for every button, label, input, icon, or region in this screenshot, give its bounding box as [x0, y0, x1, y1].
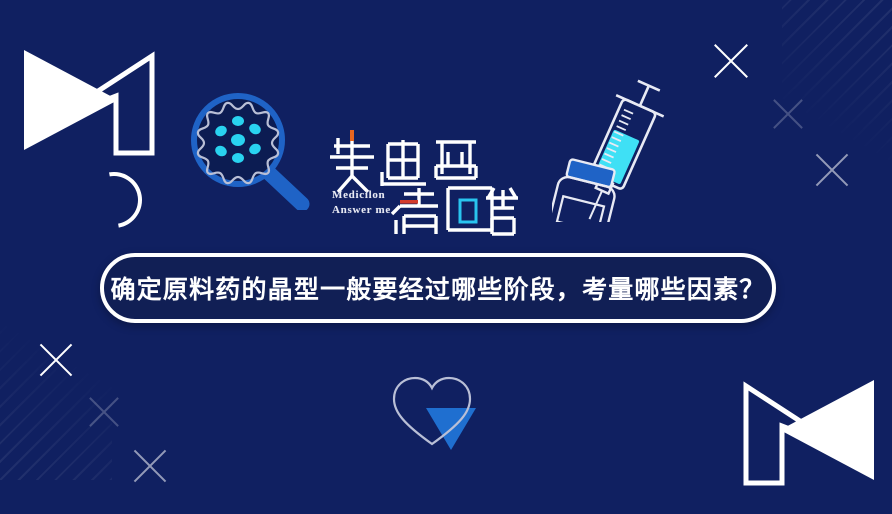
page-title: 确定原料药的晶型一般要经过哪些阶段，考量哪些因素？ — [110, 270, 765, 306]
syringe-vial-icon — [552, 76, 674, 222]
cross-top-right-1 — [708, 38, 754, 84]
logo-english-text: Medicilon Answer me — [332, 188, 391, 218]
cross-top-right-3 — [810, 148, 854, 192]
medicilon-answer-me-logo: Medicilon Answer me — [326, 130, 522, 240]
logo-english-line-2: Answer me — [332, 203, 391, 218]
cross-top-right-2 — [768, 94, 808, 134]
logo-english-line-1: Medicilon — [332, 188, 391, 203]
play-triangles-bottom-right — [740, 358, 890, 488]
magnifier-virus-icon — [186, 88, 312, 210]
cross-bottom-left-3 — [128, 444, 172, 488]
arc-ring-decoration — [75, 161, 153, 239]
cross-bottom-left-2 — [84, 392, 124, 432]
play-triangles-top-left — [8, 28, 158, 158]
cross-bottom-left-1 — [34, 338, 78, 382]
diagonal-hatch-bottom-left — [0, 300, 112, 480]
question-title-pill: 确定原料药的晶型一般要经过哪些阶段，考量哪些因素？ — [100, 253, 776, 323]
banner-root: Medicilon Answer me — [0, 0, 892, 514]
logo-wordmark-glyphs — [326, 130, 522, 240]
heart-chat-icon — [384, 372, 490, 450]
